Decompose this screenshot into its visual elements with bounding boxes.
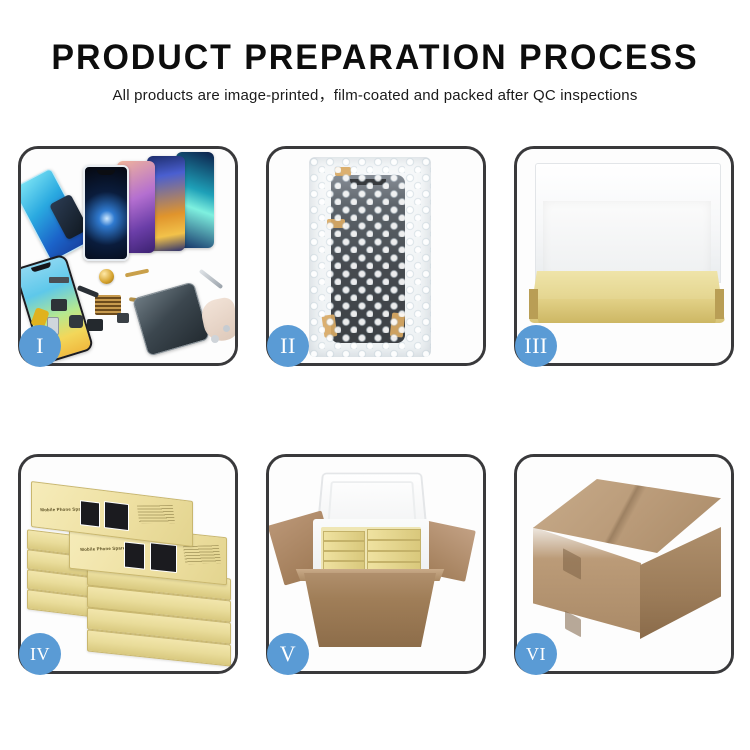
part-flex-cable-2 [125,269,149,278]
box-flap-left [529,289,538,319]
process-step-panel-3: III [514,146,734,366]
page-subtitle: All products are image-printed，film-coat… [0,86,750,106]
box-window-left-1 [80,500,100,527]
carton-front [295,573,445,647]
process-step-panel-4: Mobile Phone Spare Parts Mobile Phone Sp… [18,454,238,674]
part-camera-module [69,315,83,328]
packed-unit-1 [323,531,365,541]
step-badge-2: II [267,325,309,367]
part-screw-1 [211,335,219,343]
process-step-grid: I II [18,146,734,674]
part-screw-2 [223,325,230,332]
gold-vibration-motor-icon [99,269,114,284]
step-badge-5: V [267,633,309,675]
part-connector-1 [49,277,69,283]
step-badge-6: VI [515,633,557,675]
step-badge-4: IV [19,633,61,675]
bubble-texture [309,157,431,357]
tweezers-icon [199,269,224,289]
packed-unit-5 [367,529,421,540]
part-speaker [87,319,103,331]
box-window-left-2 [124,541,145,569]
disassembled-phone-housing [132,281,210,356]
kraft-box-stack: Mobile Phone Spare Parts Mobile Phone Sp… [25,485,235,660]
process-step-panel-2: II [266,146,486,366]
packed-unit-6 [367,540,421,551]
packed-unit-7 [367,551,421,562]
step-badge-3: III [515,325,557,367]
box-window-right-2 [150,542,177,573]
box-window-right-1 [104,501,129,531]
step-badge-1: I [19,325,61,367]
header: PRODUCT PREPARATION PROCESS All products… [0,38,750,106]
part-ic-chip [117,313,129,323]
white-foam-sheet [543,201,711,279]
process-step-panel-5: V [266,454,486,674]
box-flap-right [715,289,724,319]
packed-unit-3 [323,551,365,561]
process-step-panel-6: VI [514,454,734,674]
product-preparation-infographic: PRODUCT PREPARATION PROCESS All products… [0,0,750,750]
page-title: PRODUCT PREPARATION PROCESS [11,38,739,78]
part-connector-2 [51,299,67,311]
tempered-glass-front [83,165,129,261]
part-flex-cable-1 [77,285,99,298]
box-spec-lines-2 [183,545,221,564]
process-step-panel-1: I [18,146,238,366]
bubble-wrap-bag [309,157,431,357]
bga-chip-icon [95,295,121,315]
kraft-box-front-wall [529,299,725,323]
packed-unit-2 [323,541,365,551]
box-spec-lines-1 [137,505,175,524]
